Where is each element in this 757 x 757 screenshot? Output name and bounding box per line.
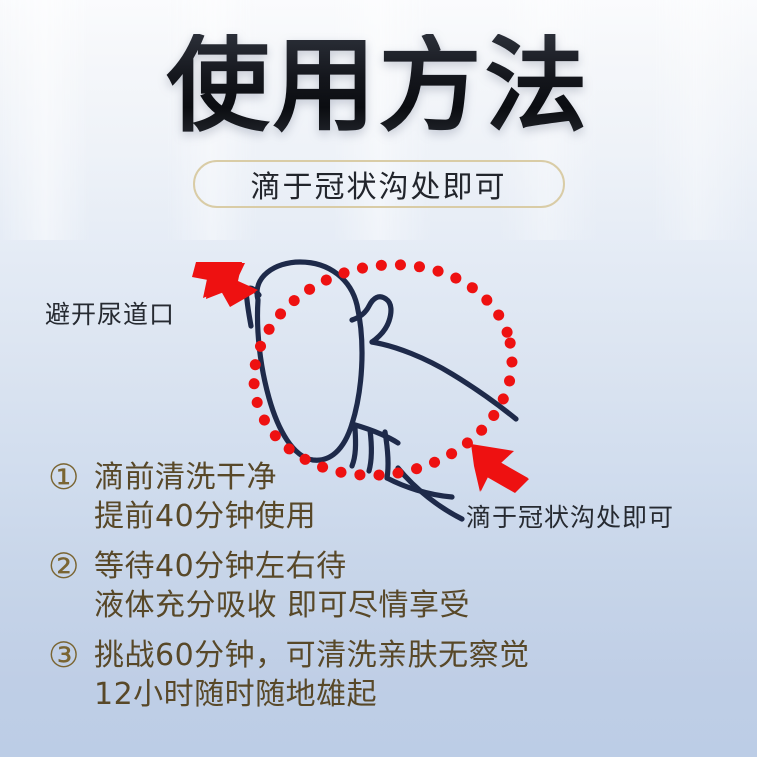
page-title: 使用方法: [0, 34, 757, 139]
subtitle-pill: 滴于冠状沟处即可: [193, 160, 565, 208]
list-item: ① 滴前清洗干净 提前40分钟使用: [48, 458, 728, 536]
step-text-2: 等待40分钟左右待 液体充分吸收 即可尽情享受: [94, 547, 470, 625]
step-text-3: 挑战60分钟，可清洗亲肤无察觉 12小时随时随地雄起: [94, 636, 530, 714]
poster-canvas: 使用方法 滴于冠状沟处即可: [0, 0, 757, 757]
step-number-3: ③: [48, 636, 94, 676]
step-number-1: ①: [48, 458, 94, 498]
list-item: ② 等待40分钟左右待 液体充分吸收 即可尽情享受: [48, 547, 728, 625]
annotation-avoid-urethra: 避开尿道口: [45, 295, 175, 331]
step-line: 12小时随时随地雄起: [94, 675, 530, 714]
list-item: ③ 挑战60分钟，可清洗亲肤无察觉 12小时随时随地雄起: [48, 636, 728, 714]
step-line: 液体充分吸收 即可尽情享受: [94, 586, 470, 625]
steps-list: ① 滴前清洗干净 提前40分钟使用 ② 等待40分钟左右待 液体充分吸收 即可尽…: [48, 458, 728, 725]
step-line: 滴前清洗干净: [94, 458, 316, 497]
step-number-2: ②: [48, 547, 94, 587]
step-line: 挑战60分钟，可清洗亲肤无察觉: [94, 636, 530, 675]
step-line: 等待40分钟左右待: [94, 547, 470, 586]
arrow-down-right-icon: [192, 262, 258, 307]
subtitle-text: 滴于冠状沟处即可: [251, 162, 507, 206]
step-line: 提前40分钟使用: [94, 497, 316, 536]
step-text-1: 滴前清洗干净 提前40分钟使用: [94, 458, 316, 536]
